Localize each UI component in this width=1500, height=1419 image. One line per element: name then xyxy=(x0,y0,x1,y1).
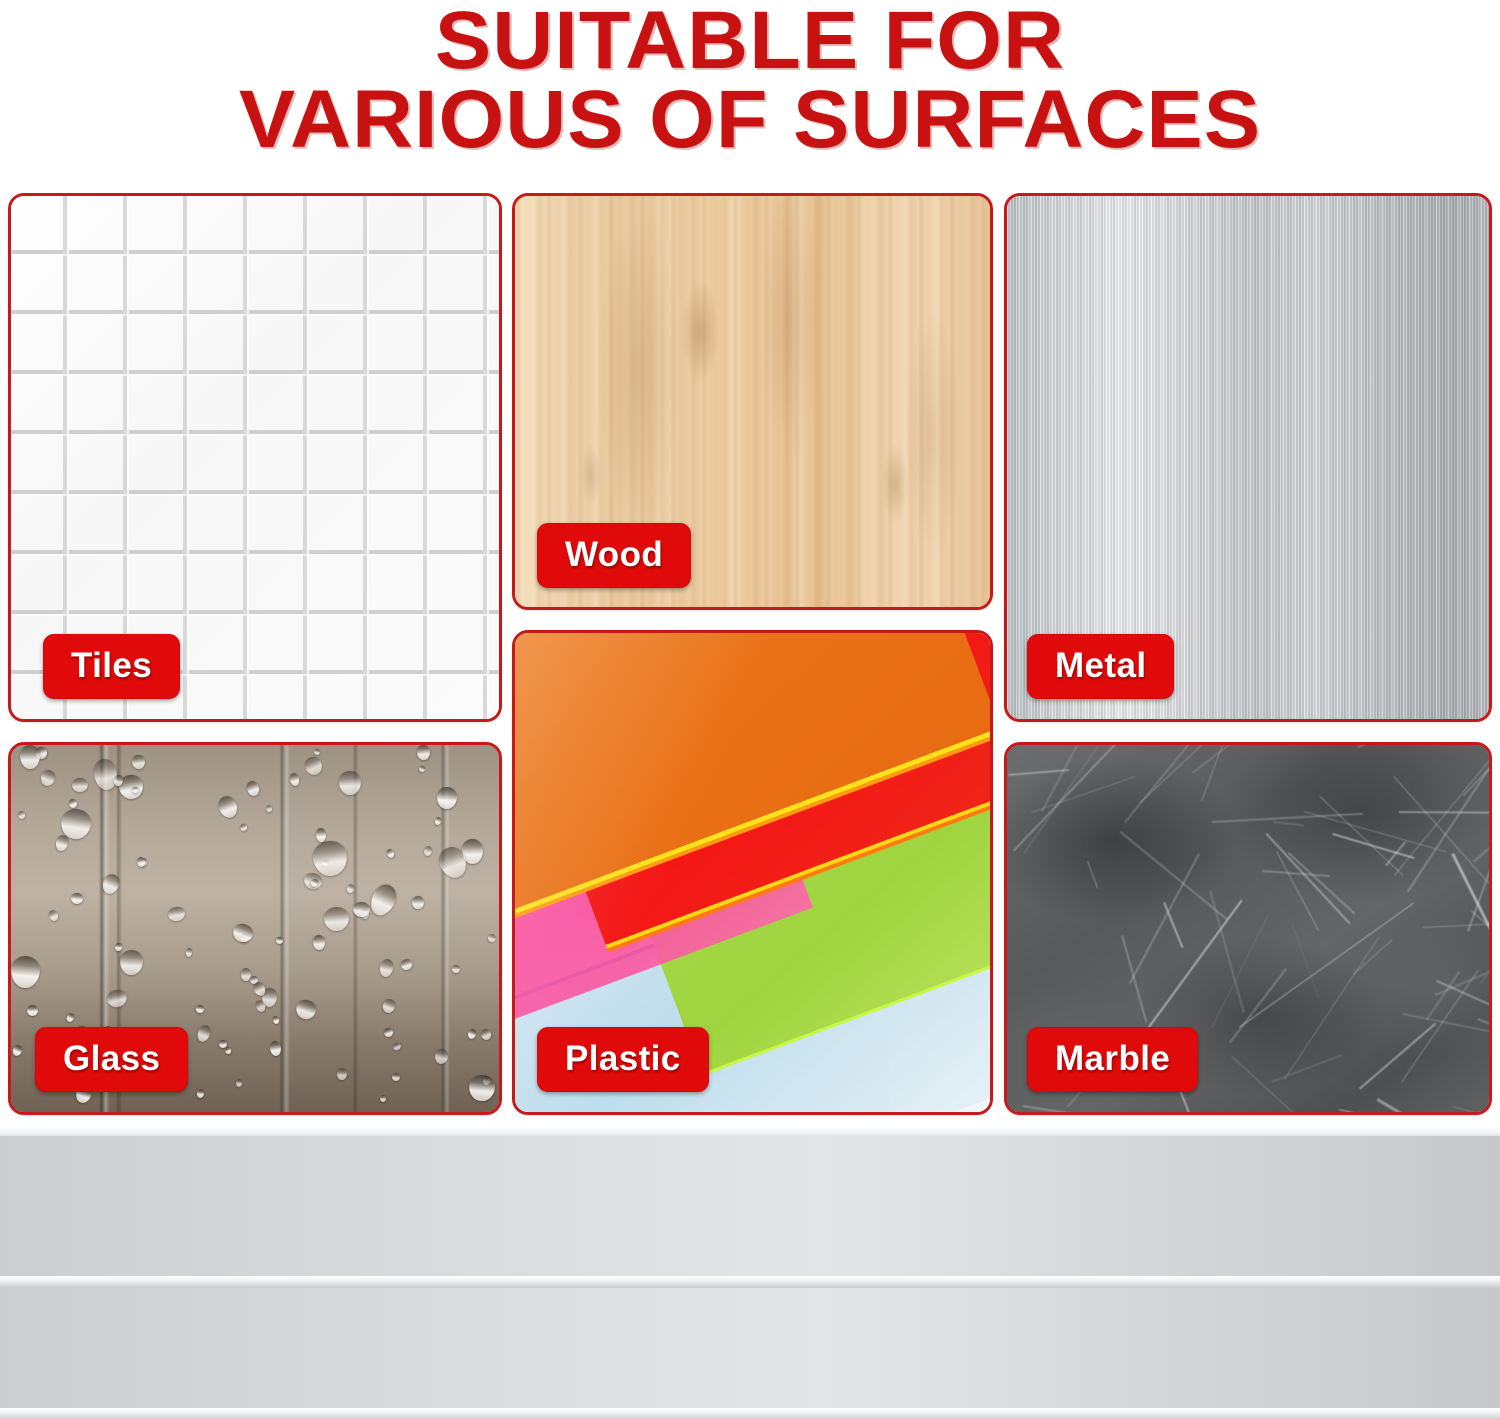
water-droplet xyxy=(275,936,283,943)
shelf-divider-1 xyxy=(0,1276,1500,1288)
marble-vein xyxy=(1121,831,1229,920)
marble-vein xyxy=(1403,1013,1492,1039)
marble-vein xyxy=(1163,902,1183,948)
marble-vein xyxy=(1488,778,1492,925)
marble-vein xyxy=(1471,910,1492,973)
marble-vein xyxy=(1023,742,1137,854)
marble-vein xyxy=(1262,870,1330,877)
marble-vein xyxy=(1129,853,1200,984)
marble-vein xyxy=(1208,890,1244,1013)
marble-vein xyxy=(1407,742,1492,892)
surface-card-metal[interactable]: Metal xyxy=(1004,193,1492,722)
surface-label-wood: Wood xyxy=(537,523,691,588)
water-droplet xyxy=(27,1005,38,1016)
infographic-page: SUITABLE FOR VARIOUS OF SURFACES Tiles W… xyxy=(0,0,1500,1419)
marble-vein xyxy=(1013,742,1121,851)
water-droplet xyxy=(218,1040,226,1049)
marble-vein xyxy=(1477,1018,1492,1068)
marble-vein xyxy=(1271,1054,1342,1083)
surface-card-marble[interactable]: Marble xyxy=(1004,742,1492,1115)
shelf-divider-2 xyxy=(0,1408,1500,1419)
shelf-top-highlight xyxy=(0,1126,1500,1136)
marble-vein xyxy=(1231,1056,1350,1115)
marble-vein xyxy=(1377,1098,1436,1115)
water-droplet xyxy=(195,1004,204,1013)
surface-card-plastic[interactable]: Plastic xyxy=(512,630,993,1115)
marble-vein xyxy=(1473,769,1492,862)
marble-vein xyxy=(1192,742,1306,773)
surface-label-metal: Metal xyxy=(1027,634,1174,699)
marble-vein xyxy=(1121,935,1147,1022)
surface-label-marble: Marble xyxy=(1027,1027,1198,1092)
bottom-shelf-strip xyxy=(0,1126,1500,1419)
marble-vein xyxy=(1359,1023,1436,1089)
marble-vein xyxy=(1201,746,1223,802)
surface-label-glass: Glass xyxy=(35,1027,188,1092)
water-droplet xyxy=(313,935,325,950)
page-title-line-2: VARIOUS OF SURFACES xyxy=(0,81,1500,160)
marble-vein xyxy=(1087,861,1098,889)
page-title-line-1: SUITABLE FOR xyxy=(0,2,1500,81)
water-droplet xyxy=(412,896,424,909)
surface-card-glass[interactable]: Glass xyxy=(8,742,502,1115)
shelf-panel-upper xyxy=(0,1136,1500,1278)
marble-vein xyxy=(1287,852,1355,914)
marble-vein xyxy=(1031,776,1135,813)
marble-vein xyxy=(1229,969,1286,1044)
surface-grid: Tiles Wood Metal Glass xyxy=(0,193,1500,1115)
surface-card-tiles[interactable]: Tiles xyxy=(8,193,502,722)
surface-label-plastic: Plastic xyxy=(537,1027,709,1092)
marble-vein xyxy=(1423,921,1492,928)
marble-vein xyxy=(1273,821,1304,826)
page-title: SUITABLE FOR VARIOUS OF SURFACES xyxy=(0,2,1500,159)
marble-vein xyxy=(1453,1106,1492,1115)
surface-card-wood[interactable]: Wood xyxy=(512,193,993,610)
surface-label-tiles: Tiles xyxy=(43,634,180,699)
marble-vein xyxy=(1426,970,1460,1019)
water-droplet xyxy=(115,943,122,951)
marble-vein xyxy=(1023,1105,1222,1115)
shelf-panel-lower xyxy=(0,1288,1500,1418)
water-droplet xyxy=(336,1068,346,1080)
marble-vein xyxy=(1357,742,1492,748)
